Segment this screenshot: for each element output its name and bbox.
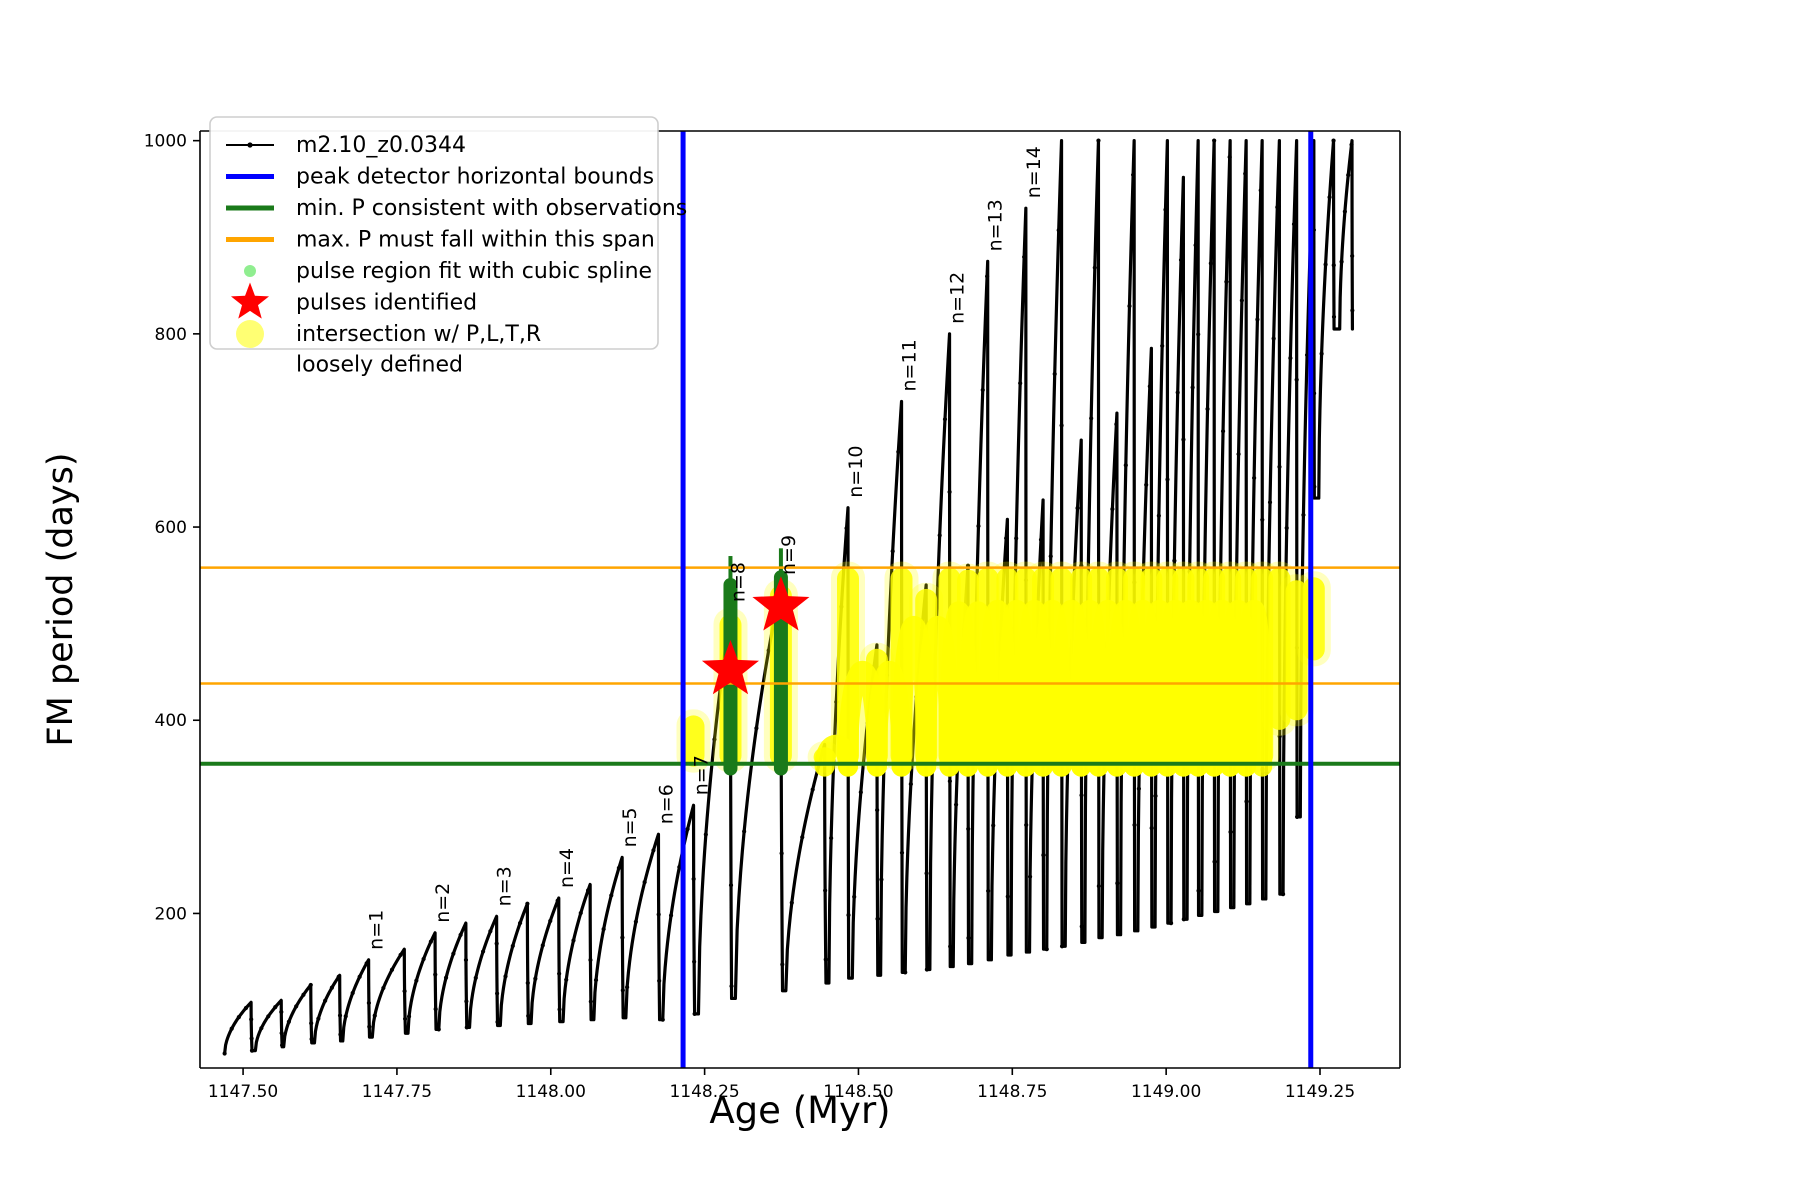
track-point [390, 968, 394, 972]
legend-label: pulses identified [296, 291, 477, 316]
legend-item[interactable]: min. P consistent with observations [226, 196, 687, 221]
track-point [900, 851, 904, 855]
track-point [1150, 826, 1154, 830]
track-point [947, 490, 951, 494]
track-point [1350, 254, 1354, 258]
track-point [1191, 385, 1195, 389]
track-point [1165, 477, 1169, 481]
track-point [1114, 422, 1118, 426]
track-point [373, 1014, 377, 1018]
track-point [1346, 173, 1350, 177]
track-point [1096, 139, 1100, 143]
track-point [465, 1025, 469, 1029]
track-point [954, 803, 958, 807]
track-point [966, 936, 970, 940]
track-point [481, 949, 485, 953]
track-point [1132, 823, 1136, 827]
legend-label: min. P consistent with observations [296, 196, 687, 221]
track-point [1349, 143, 1353, 147]
track-point [365, 961, 369, 965]
y-tick-label: 200 [155, 904, 187, 924]
x-tick-label: 1148.00 [516, 1082, 586, 1102]
track-point [434, 1007, 438, 1011]
y-axis-title: FM period (days) [41, 453, 81, 747]
track-point [399, 953, 403, 957]
track-point [948, 779, 952, 783]
pulse-index-label: n=6 [655, 784, 677, 824]
track-point [1182, 917, 1186, 921]
track-point [249, 1017, 253, 1021]
track-point [579, 911, 583, 915]
track-point [1243, 172, 1247, 176]
track-point [1343, 210, 1347, 214]
track-point [495, 1020, 499, 1024]
track-point [891, 549, 895, 553]
track-point [617, 866, 621, 870]
track-point [790, 901, 794, 905]
track-point [1244, 799, 1248, 803]
track-point [1281, 892, 1285, 896]
track-point [903, 970, 907, 974]
track-point [266, 1014, 270, 1018]
track-point [1179, 258, 1183, 262]
track-point [1255, 317, 1259, 321]
track-point [571, 938, 575, 942]
track-point [223, 1051, 227, 1055]
track-point [495, 991, 499, 995]
track-point [451, 952, 455, 956]
track-point [985, 274, 989, 278]
track-point [609, 893, 613, 897]
track-point [437, 1027, 441, 1031]
y-tick-label: 1000 [144, 132, 187, 152]
track-point [1339, 260, 1343, 264]
track-point [1079, 793, 1083, 797]
track-point [1327, 195, 1331, 199]
y-tick-label: 400 [155, 711, 187, 731]
track-point [1024, 823, 1028, 827]
yellow-intersection-arch [1246, 610, 1262, 767]
track-point [1224, 280, 1228, 284]
track-point [280, 1043, 284, 1047]
track-point [1110, 507, 1114, 511]
track-point [1075, 506, 1079, 510]
track-point [1212, 139, 1216, 143]
track-point [557, 972, 561, 976]
track-point [1115, 881, 1119, 885]
track-point [1124, 463, 1128, 467]
track-point [1194, 243, 1198, 247]
pulse-index-label: n=7 [691, 755, 713, 795]
track-point [589, 999, 593, 1003]
track-point [309, 983, 313, 987]
legend-label: intersection w/ P,L,T,R [296, 322, 541, 347]
track-point [986, 889, 990, 893]
x-tick-label: 1147.75 [362, 1082, 432, 1102]
track-point [511, 944, 515, 948]
track-point [526, 981, 530, 985]
track-point [981, 388, 985, 392]
track-point [459, 933, 463, 937]
legend-item[interactable]: pulse region fit with cubic spline [244, 259, 652, 284]
track-point [1212, 860, 1216, 864]
track-point [594, 978, 598, 982]
track-point [823, 888, 827, 892]
track-point [309, 1021, 313, 1025]
pulse-index-label: n=10 [845, 446, 867, 498]
track-point [1277, 465, 1281, 469]
track-point [1039, 538, 1043, 542]
track-point [464, 958, 468, 962]
track-point [588, 958, 592, 962]
track-point [1331, 139, 1335, 143]
track-point [1060, 423, 1064, 427]
track-point [407, 1014, 411, 1018]
track-point [1176, 390, 1180, 394]
track-point [280, 1031, 284, 1035]
pulse-index-label: n=15 [1059, 79, 1081, 131]
track-point [464, 999, 468, 1003]
track-point [586, 888, 590, 892]
track-point [402, 989, 406, 993]
track-point [621, 988, 625, 992]
track-point [661, 1018, 665, 1022]
legend-dot-swatch [244, 265, 256, 277]
track-point [1127, 304, 1131, 308]
track-point [1097, 884, 1101, 888]
track-point [279, 1010, 283, 1014]
track-point [1153, 794, 1157, 798]
track-point [948, 944, 952, 948]
track-point [1028, 875, 1032, 879]
pulse-index-label: n=4 [556, 848, 578, 888]
track-point [429, 939, 433, 943]
track-point [1022, 255, 1026, 259]
track-point [875, 808, 879, 812]
track-point [1285, 526, 1289, 530]
track-point [620, 935, 624, 939]
track-point [780, 962, 784, 966]
track-point [548, 919, 552, 923]
track-point [403, 1017, 407, 1021]
track-point [259, 1026, 263, 1030]
track-point [1295, 378, 1299, 382]
track-point [244, 1006, 248, 1010]
track-point [651, 848, 655, 852]
track-point [526, 1014, 530, 1018]
track-point [338, 1032, 342, 1036]
legend-yellow-swatch [236, 320, 264, 348]
pulse-index-label: n=11 [899, 339, 921, 391]
track-point [330, 986, 334, 990]
track-point [1272, 337, 1276, 341]
track-point [657, 979, 661, 983]
track-point [1049, 554, 1053, 558]
track-point [1196, 889, 1200, 893]
track-point [344, 1014, 348, 1018]
track-point [1157, 514, 1161, 518]
track-point [525, 902, 529, 906]
pulse-index-label: n=2 [432, 883, 454, 923]
x-tick-label: 1148.75 [977, 1082, 1047, 1102]
track-point [323, 999, 327, 1003]
track-point [488, 929, 492, 933]
track-point [1018, 381, 1022, 385]
track-point [414, 979, 418, 983]
track-point [1323, 262, 1327, 266]
track-point [875, 917, 879, 921]
track-point [1053, 372, 1057, 376]
track-point [367, 1025, 371, 1029]
track-point [1172, 559, 1176, 563]
pulse-index-label: n=12 [947, 272, 969, 324]
track-point [503, 974, 507, 978]
track-point [541, 943, 545, 947]
track-point [1275, 205, 1279, 209]
track-point [294, 1004, 298, 1008]
track-point [704, 832, 708, 836]
track-point [729, 883, 733, 887]
track-point [811, 787, 815, 791]
track-point [742, 829, 746, 833]
track-point [1260, 518, 1264, 522]
track-point [1228, 830, 1232, 834]
track-point [474, 976, 478, 980]
track-point [1045, 947, 1049, 951]
track-point [533, 977, 537, 981]
track-point [1332, 315, 1336, 319]
track-point [287, 1020, 291, 1024]
track-point [1004, 536, 1008, 540]
x-tick-label: 1149.25 [1285, 1082, 1355, 1102]
y-tick-label: 800 [155, 325, 187, 345]
pulse-index-label: n=14 [1023, 146, 1045, 198]
track-point [301, 993, 305, 997]
track-point [754, 726, 758, 730]
pulse-index-label: n=3 [494, 866, 516, 906]
track-point [669, 913, 673, 917]
track-point [800, 835, 804, 839]
track-point [924, 871, 928, 875]
track-point [1320, 352, 1324, 356]
track-point [351, 991, 355, 995]
track-point [1148, 384, 1152, 388]
legend-label: m2.10_z0.0344 [296, 133, 466, 158]
track-point [643, 880, 647, 884]
x-tick-label: 1147.50 [208, 1082, 278, 1102]
track-point [273, 1005, 277, 1009]
track-point [1259, 188, 1263, 192]
track-point [250, 1036, 254, 1040]
track-point [844, 526, 848, 530]
track-point [337, 975, 341, 979]
pulse-index-label: n=13 [985, 199, 1007, 251]
track-point [1137, 787, 1141, 791]
track-point [1295, 815, 1299, 819]
track-point [1209, 261, 1213, 265]
track-point [859, 790, 863, 794]
pulse-index-label: n=5 [619, 807, 641, 847]
track-point [1196, 332, 1200, 336]
pulse-index-label: n=8 [727, 562, 749, 602]
legend-label: peak detector horizontal bounds [296, 165, 654, 190]
track-point [780, 851, 784, 855]
track-point [1006, 895, 1010, 899]
track-point [1240, 298, 1244, 302]
track-point [1089, 416, 1093, 420]
x-axis-title: Age (Myr) [709, 1089, 890, 1132]
track-point [1014, 536, 1018, 540]
track-point [1080, 924, 1084, 928]
track-point [422, 957, 426, 961]
track-point [564, 978, 568, 982]
track-point [518, 921, 522, 925]
track-point [358, 975, 362, 979]
track-point [693, 1012, 697, 1016]
legend-label: max. P must fall within this span [296, 228, 655, 253]
track-point [381, 986, 385, 990]
track-point [316, 1017, 320, 1021]
track-point [966, 827, 970, 831]
track-point [729, 984, 733, 988]
track-point [1144, 483, 1148, 487]
track-point [879, 878, 883, 882]
y-tick-label: 600 [155, 518, 187, 538]
track-point [938, 533, 942, 537]
track-point [602, 927, 606, 931]
track-point [1205, 407, 1209, 411]
track-point [1268, 500, 1272, 504]
track-point [1060, 944, 1064, 948]
track-point [1228, 155, 1232, 159]
track-point [230, 1027, 234, 1031]
x-tick-label: 1149.00 [1131, 1082, 1201, 1102]
track-point [1131, 173, 1135, 177]
track-point [250, 1049, 254, 1053]
track-point [692, 877, 696, 881]
track-point [433, 972, 437, 976]
figure-root: n=1n=2n=3n=4n=5n=6n=7n=8n=9n=10n=11n=12n… [0, 0, 1800, 1200]
track-point [1160, 344, 1164, 348]
yellow-intersection-halo [1297, 571, 1331, 666]
track-point [237, 1015, 241, 1019]
chart-svg: n=1n=2n=3n=4n=5n=6n=7n=8n=9n=10n=11n=12n… [0, 0, 1800, 1200]
track-point [692, 960, 696, 964]
track-point [1288, 356, 1292, 360]
track-point [943, 417, 947, 421]
pulse-index-label: n=1 [366, 910, 388, 950]
track-point [556, 899, 560, 903]
track-point [991, 823, 995, 827]
track-point [557, 1007, 561, 1011]
legend-label-continued: loosely defined [296, 353, 463, 378]
track-point [1093, 266, 1097, 270]
track-point [1169, 921, 1173, 925]
legend-label: pulse region fit with cubic spline [296, 259, 652, 284]
track-point [1041, 853, 1045, 857]
track-point [1236, 452, 1240, 456]
pulse-index-label: n=9 [778, 535, 800, 575]
track-point [829, 836, 833, 840]
track-point [444, 976, 448, 980]
track-point [1332, 263, 1336, 267]
track-point [846, 913, 850, 917]
track-point [686, 827, 690, 831]
track-point [310, 1037, 314, 1041]
track-point [634, 920, 638, 924]
track-point [896, 450, 900, 454]
track-point [852, 895, 856, 899]
track-point [338, 1013, 342, 1017]
track-point [1221, 429, 1225, 433]
track-point [367, 1001, 371, 1005]
track-point [1057, 228, 1061, 232]
track-point [1292, 222, 1296, 226]
track-point [824, 957, 828, 961]
track-point [925, 967, 929, 971]
track-point [625, 985, 629, 989]
track-point [657, 912, 661, 916]
track-point [1350, 308, 1354, 312]
track-point [1163, 208, 1167, 212]
track-point [495, 942, 499, 946]
track-point [1252, 476, 1256, 480]
legend-dot-swatch [247, 142, 252, 147]
track-point [909, 782, 913, 786]
track-point [976, 524, 980, 528]
track-point [1181, 438, 1185, 442]
track-point [1301, 513, 1305, 517]
